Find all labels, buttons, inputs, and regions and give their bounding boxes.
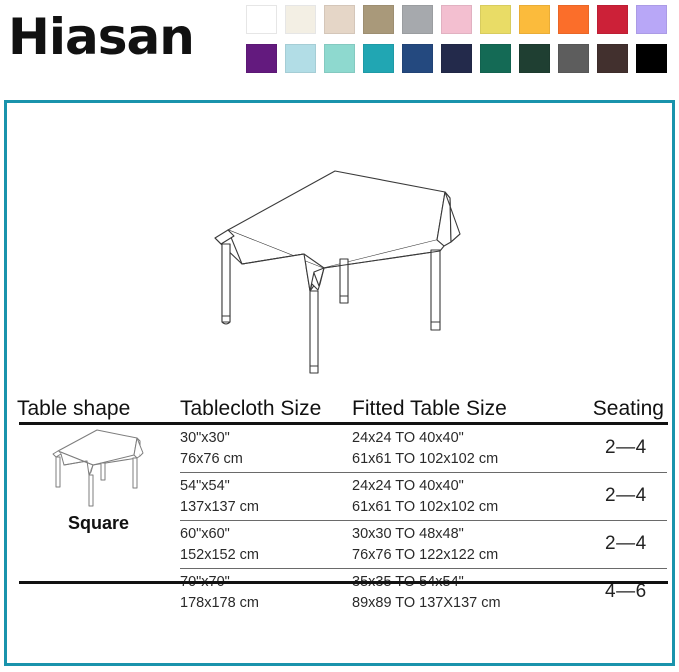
fitted-size-cm: 61x61 TO 102x102 cm <box>352 449 498 470</box>
color-swatch-light-blue[interactable] <box>285 44 316 73</box>
color-swatch-white[interactable] <box>246 5 277 34</box>
color-swatch-grey[interactable] <box>402 5 433 34</box>
color-swatch-gold[interactable] <box>519 5 550 34</box>
fitted-size-cm: 76x76 TO 122x122 cm <box>352 545 498 566</box>
brand-logo: Hiasan <box>8 8 194 66</box>
table-header-row: Table shape Tablecloth Size Fitted Table… <box>7 387 672 425</box>
cell-seating: 2—4 <box>605 437 647 458</box>
column-header-table-shape: Table shape <box>17 397 130 421</box>
column-header-seating: Seating <box>593 397 664 421</box>
cell-fitted-table-size: 24x24 TO 40x40" 61x61 TO 102x102 cm <box>352 428 498 470</box>
page-header: Hiasan <box>0 0 679 92</box>
fitted-size-inches: 24x24 TO 40x40" <box>352 478 464 494</box>
column-header-fitted-table-size: Fitted Table Size <box>352 397 507 421</box>
color-swatch-row-1 <box>246 5 676 34</box>
color-swatch-purple[interactable] <box>246 44 277 73</box>
square-table-illustration <box>192 158 492 383</box>
cloth-size-inches: 30"x30" <box>180 430 230 446</box>
color-swatch-black[interactable] <box>636 44 667 73</box>
fitted-size-cm: 61x61 TO 102x102 cm <box>352 497 498 518</box>
color-swatch-dark-brown[interactable] <box>597 44 628 73</box>
color-swatch-row-2 <box>246 44 676 73</box>
color-swatch-ivory[interactable] <box>285 5 316 34</box>
color-swatch-orange[interactable] <box>558 5 589 34</box>
color-swatch-yellow[interactable] <box>480 5 511 34</box>
cloth-size-cm: 178x178 cm <box>180 593 259 614</box>
color-swatch-red[interactable] <box>597 5 628 34</box>
color-swatch-beige[interactable] <box>324 5 355 34</box>
cell-fitted-table-size: 30x30 TO 48x48" 76x76 TO 122x122 cm <box>352 524 498 566</box>
cell-tablecloth-size: 54"x54" 137x137 cm <box>180 476 259 518</box>
cell-fitted-table-size: 35x35 TO 54x54" 89x89 TO 137X137 cm <box>352 572 501 614</box>
color-swatch-dark-navy[interactable] <box>441 44 472 73</box>
color-swatch-aqua[interactable] <box>324 44 355 73</box>
color-swatch-pink[interactable] <box>441 5 472 34</box>
cloth-size-cm: 137x137 cm <box>180 497 259 518</box>
color-swatch-forest-green[interactable] <box>519 44 550 73</box>
column-header-tablecloth-size: Tablecloth Size <box>180 397 321 421</box>
cell-tablecloth-size: 30"x30" 76x76 cm <box>180 428 243 470</box>
cloth-size-cm: 152x152 cm <box>180 545 259 566</box>
cloth-size-cm: 76x76 cm <box>180 449 243 470</box>
size-guide-panel: Square Table shape Tablecloth Size Fitte… <box>4 100 675 666</box>
cell-tablecloth-size: 60"x60" 152x152 cm <box>180 524 259 566</box>
color-swatch-lavender[interactable] <box>636 5 667 34</box>
color-swatch-navy-blue[interactable] <box>402 44 433 73</box>
table-row: 70"x70" 178x178 cm 35x35 TO 54x54" 89x89… <box>7 569 672 617</box>
color-swatch-grid <box>246 5 676 83</box>
fitted-size-inches: 24x24 TO 40x40" <box>352 430 464 446</box>
table-body: 30"x30" 76x76 cm 24x24 TO 40x40" 61x61 T… <box>7 425 672 617</box>
color-swatch-teal[interactable] <box>363 44 394 73</box>
table-footer-divider <box>19 581 668 584</box>
table-row: 60"x60" 152x152 cm 30x30 TO 48x48" 76x76… <box>7 521 672 569</box>
cell-tablecloth-size: 70"x70" 178x178 cm <box>180 572 259 614</box>
table-row: 54"x54" 137x137 cm 24x24 TO 40x40" 61x61… <box>7 473 672 521</box>
color-swatch-emerald[interactable] <box>480 44 511 73</box>
cell-seating: 2—4 <box>605 485 647 506</box>
cell-seating: 2—4 <box>605 533 647 554</box>
color-swatch-charcoal[interactable] <box>558 44 589 73</box>
table-row: 30"x30" 76x76 cm 24x24 TO 40x40" 61x61 T… <box>7 425 672 473</box>
cloth-size-inches: 60"x60" <box>180 526 230 542</box>
cell-seating: 4—6 <box>605 581 647 602</box>
fitted-size-cm: 89x89 TO 137X137 cm <box>352 593 501 614</box>
cell-fitted-table-size: 24x24 TO 40x40" 61x61 TO 102x102 cm <box>352 476 498 518</box>
cloth-size-inches: 54"x54" <box>180 478 230 494</box>
fitted-size-inches: 30x30 TO 48x48" <box>352 526 464 542</box>
color-swatch-taupe[interactable] <box>363 5 394 34</box>
